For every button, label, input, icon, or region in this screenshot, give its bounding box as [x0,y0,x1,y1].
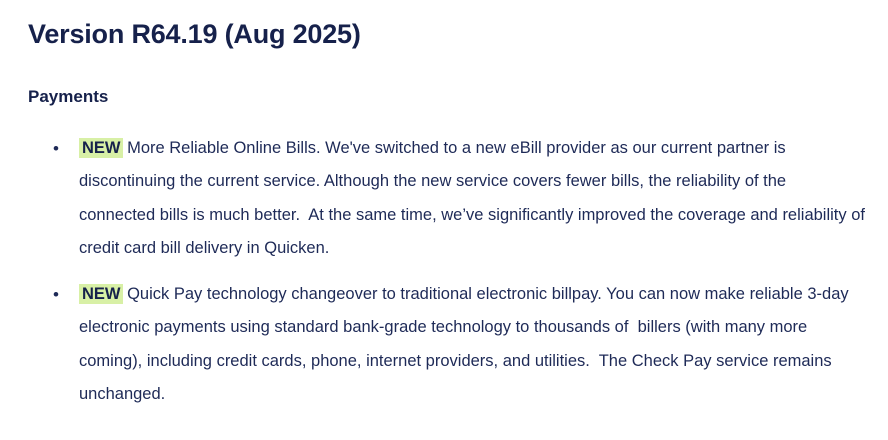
status-badge: NEW [79,138,123,158]
status-badge: NEW [79,284,123,304]
bullet-icon: • [53,132,67,166]
section-heading-payments: Payments [28,87,866,107]
note-body: More Reliable Online Bills. We've switch… [79,139,870,258]
list-item: •NEW More Reliable Online Bills. We've s… [28,132,866,266]
bullet-icon: • [53,278,67,312]
page-title: Version R64.19 (Aug 2025) [28,18,866,50]
list-item: •NEW Quick Pay technology changeover to … [28,278,866,412]
release-notes-page: Version R64.19 (Aug 2025) Payments •NEW … [0,0,888,412]
release-notes-list: •NEW More Reliable Online Bills. We've s… [28,132,866,412]
note-body: Quick Pay technology changeover to tradi… [79,285,853,404]
